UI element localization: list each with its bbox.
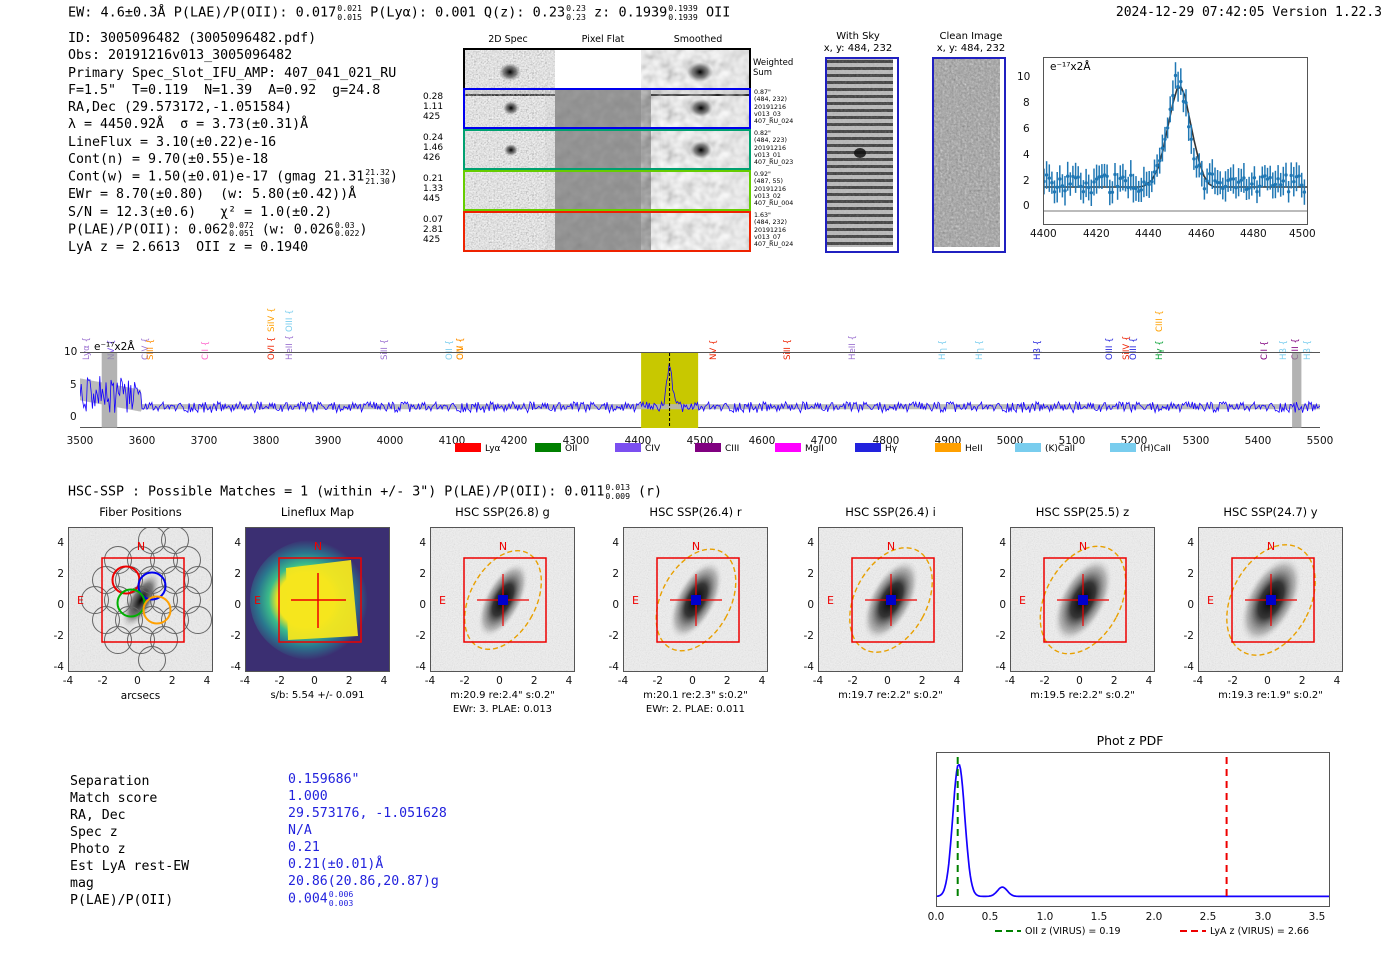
phot-z-xtick: 0.0	[920, 911, 952, 923]
lineplot-xtick: 4460	[1188, 228, 1215, 240]
header-z-type: OII	[706, 5, 730, 21]
lineplot-xtick: 4420	[1083, 228, 1110, 240]
panel-axis-label: arcsecs	[68, 690, 213, 702]
header-ew: EW: 4.6±0.3Å	[68, 5, 166, 21]
panel-xtick: 2	[910, 675, 934, 687]
lineplot-xtick: 4440	[1135, 228, 1162, 240]
panel-ytick: -2	[1176, 630, 1194, 642]
cutout-title-clean-image: Clean Imagex, y: 484, 232	[921, 31, 1021, 55]
spectrum-xtick: 5400	[1240, 435, 1276, 447]
svg-text:N: N	[887, 540, 895, 553]
panel-ytick: 0	[796, 599, 814, 611]
panel-xtick: -4	[611, 675, 635, 687]
panel-xtick: 0	[1256, 675, 1280, 687]
spectrum-xtick: 4000	[372, 435, 408, 447]
header-z-value: 0.1939	[618, 5, 667, 21]
phot-z-xtick: 3.5	[1301, 911, 1333, 923]
weighted-sum-label: Weighted Sum	[753, 58, 793, 78]
panel-title: HSC SSP(26.4) i	[796, 505, 985, 519]
legend-swatch	[455, 443, 481, 452]
panel-xtick: 4	[1137, 675, 1161, 687]
panel-ytick: 0	[223, 599, 241, 611]
cutout-title-with-sky: With Skyx, y: 484, 232	[813, 31, 903, 55]
legend-item: (K)CaII	[1015, 443, 1075, 454]
header-datetime: 2024-12-29 07:42:05	[1116, 5, 1265, 20]
panel-caption-2: EWr: 3. PLAE: 0.013	[406, 704, 599, 715]
panel-ytick: -2	[601, 630, 619, 642]
svg-text:E: E	[1019, 594, 1026, 607]
match-value: 0.21(±0.01)Å	[288, 856, 383, 873]
lineplot-xtick: 4500	[1289, 228, 1316, 240]
panel-xtick: 0	[303, 675, 327, 687]
lineplot-ytick: 8	[1023, 97, 1030, 109]
info-ewr: EWr = 8.70(±0.80) (w: 5.80(±0.42))Å	[68, 186, 398, 203]
panel-caption: m:20.1 re:2.3" s:0.2"	[599, 690, 792, 701]
legend-swatch	[935, 443, 961, 452]
panel-title: HSC SSP(26.8) g	[408, 505, 597, 519]
panel-image[interactable]: N E	[245, 527, 390, 672]
cutout-clean-image	[932, 57, 1006, 253]
match-value: 0.159686"	[288, 771, 359, 788]
spectrum-xtick: 3900	[310, 435, 346, 447]
panel-xtick: 2	[160, 675, 184, 687]
match-plae-range: 0.0060.003	[329, 890, 354, 907]
spec2d-row-right-label: 0.92" (487, 55) 20191216 v013_02 407_RU_…	[754, 171, 793, 207]
info-cont-w: Cont(w) = 1.50(±0.01)e-17 (gmag 21.3121.…	[68, 168, 398, 186]
svg-text:E: E	[1207, 594, 1214, 607]
source-info-block: ID: 3005096482 (3005096482.pdf) Obs: 201…	[68, 30, 398, 256]
spec2d-row-left-label: 0.24 1.46 426	[423, 133, 443, 163]
header-z-range: 0.19390.1939	[668, 4, 698, 21]
match-value: 1.000	[288, 788, 328, 805]
info-plae-range: 0.0720.051	[229, 221, 254, 238]
spectrum-line-markers: Lyα {NV {CIV {SIII {CII {OVI {HeII {SiIV…	[80, 276, 1320, 352]
legend-item: HeII	[935, 443, 983, 454]
panel-image[interactable]: N E	[623, 527, 768, 672]
match-key: Photo z	[70, 841, 126, 858]
panel-ytick: 4	[988, 537, 1006, 549]
match-value: 20.86(20.86,20.87)g	[288, 873, 439, 890]
panel-title: HSC SSP(25.5) z	[988, 505, 1177, 519]
panel-xtick: 0	[876, 675, 900, 687]
panel-ytick: 0	[988, 599, 1006, 611]
spec2d-row	[463, 88, 751, 129]
panel-xtick: 2	[1290, 675, 1314, 687]
header-z-label: z:	[594, 5, 610, 21]
match-value: 0.21	[288, 839, 320, 856]
panel-xtick: -2	[841, 675, 865, 687]
panel-xtick: -4	[418, 675, 442, 687]
info-radec: RA,Dec (29.573172,-1.051584)	[68, 99, 398, 116]
match-value: 29.573176, -1.051628	[288, 805, 447, 822]
info-lineflux: LineFlux = 3.10(±0.22)e-16	[68, 134, 398, 151]
panel-ytick: -4	[408, 661, 426, 673]
info-snr: S/N = 12.3(±0.6) χ² = 1.0(±0.2)	[68, 204, 398, 221]
legend-swatch	[775, 443, 801, 452]
match-value: N/A	[288, 822, 312, 839]
spec2d-row-right-label: 0.82" (484, 223) 20191216 v013_01 407_RU…	[754, 130, 793, 166]
phot-z-pdf-panel: Phot z PDF 0.00.51.01.52.02.53.03.5 OII …	[930, 733, 1330, 948]
svg-text:N: N	[137, 540, 145, 553]
legend-item: MgII	[775, 443, 824, 454]
panel-ytick: -4	[796, 661, 814, 673]
info-lambda: λ = 4450.92Å σ = 3.73(±0.31)Å	[68, 116, 398, 133]
lineplot-xtick: 4480	[1240, 228, 1267, 240]
info-id: ID: 3005096482 (3005096482.pdf)	[68, 30, 398, 47]
panel-ytick: 4	[408, 537, 426, 549]
spectrum-ytick: 5	[70, 379, 77, 391]
spec2d-row	[463, 170, 751, 211]
full-spectrum-plot: e⁻¹⁷x2Å	[80, 352, 1320, 428]
panel-xtick: -2	[268, 675, 292, 687]
header-qz-range: 0.230.23	[566, 4, 586, 21]
panel-ytick: -4	[46, 661, 64, 673]
match-key: Spec z	[70, 824, 118, 841]
panel-caption-2: EWr: 2. PLAE: 0.011	[599, 704, 792, 715]
match-key: Est LyA rest-EW	[70, 858, 189, 875]
info-plae-w-range: 0.030.022	[335, 221, 360, 238]
legend-item: (H)CaII	[1110, 443, 1171, 454]
panel-image[interactable]: N E	[1198, 527, 1343, 672]
spec2d-row-left-label: 0.28 1.11 425	[423, 92, 443, 122]
panel-ytick: 2	[1176, 568, 1194, 580]
panel-ytick: 2	[796, 568, 814, 580]
spectrum-ytick: 0	[70, 411, 77, 423]
phot-z-title: Phot z PDF	[930, 733, 1330, 748]
panel-image[interactable]: N E	[818, 527, 963, 672]
panel-xtick: 0	[488, 675, 512, 687]
spectrum-xtick: 4200	[496, 435, 532, 447]
panel-xtick: 0	[681, 675, 705, 687]
cutout-with-sky	[825, 57, 899, 253]
phot-z-legend-item: OII z (VIRUS) = 0.19	[995, 926, 1121, 937]
legend-item: Hγ	[855, 443, 897, 454]
svg-text:E: E	[632, 594, 639, 607]
panel-xtick: -4	[998, 675, 1022, 687]
panel-xtick: 0	[1068, 675, 1092, 687]
panel-title: HSC SSP(24.7) y	[1176, 505, 1365, 519]
panel-xtick: 2	[1102, 675, 1126, 687]
panel-xtick: -2	[91, 675, 115, 687]
match-key: Separation	[70, 773, 149, 790]
legend-swatch	[695, 443, 721, 452]
col-header-2dspec: 2D Spec	[463, 34, 553, 45]
lineplot-ytick: 10	[1017, 71, 1030, 83]
lineplot-ytick: 0	[1023, 200, 1030, 212]
header-summary-line: EW: 4.6±0.3Å P(LAE)/P(OII): 0.0170.0210.…	[68, 4, 730, 21]
panel-xtick: 4	[1325, 675, 1349, 687]
phot-z-xtick: 1.5	[1083, 911, 1115, 923]
emission-line-label: SiIV {	[267, 308, 277, 332]
spectrum-xtick: 3600	[124, 435, 160, 447]
phot-z-xtick: 3.0	[1247, 911, 1279, 923]
spectrum-xtick: 3800	[248, 435, 284, 447]
legend-item: Lyα	[455, 443, 500, 454]
svg-text:N: N	[1267, 540, 1275, 553]
spec2d-row-right-label: 0.87" (484, 232) 20191216 v013_03 407_RU…	[754, 89, 793, 125]
header-plae-label: P(LAE)/P(OII):	[174, 5, 288, 21]
panel-title: Lineflux Map	[223, 505, 412, 519]
info-redshifts: LyA z = 2.6613 OII z = 0.1940	[68, 239, 398, 256]
spectrum-xtick: 5500	[1302, 435, 1338, 447]
panel-xtick: 2	[522, 675, 546, 687]
panel-ytick: -2	[988, 630, 1006, 642]
legend-item: CIV	[615, 443, 660, 454]
panel-caption: m:19.7 re:2.2" s:0.2"	[794, 690, 987, 701]
info-gmag-range: 21.3221.30	[365, 168, 390, 185]
panel-ytick: 2	[988, 568, 1006, 580]
emission-line-label: CIII {	[1155, 310, 1165, 332]
header-meta: 2024-12-29 07:42:05 Version 1.22.3	[1116, 5, 1382, 20]
panel-ytick: 4	[601, 537, 619, 549]
hscssp-headline: HSC-SSP : Possible Matches = 1 (within +…	[68, 483, 662, 500]
panel-ytick: 0	[601, 599, 619, 611]
spec2d-row-right-label: 1.63" (484, 232) 20191216 v013_07 407_RU…	[754, 212, 793, 248]
panel-ytick: 0	[46, 599, 64, 611]
info-fwhm: F=1.5" T=0.119 N=1.39 A=0.92 g=24.8	[68, 82, 398, 99]
emission-line-label: OIII {	[285, 309, 295, 332]
panel-xtick: -2	[453, 675, 477, 687]
panel-xtick: -4	[56, 675, 80, 687]
phot-z-xtick: 1.0	[1029, 911, 1061, 923]
match-value-plae: 0.0040.0060.003	[288, 890, 353, 908]
line-profile-plot: e⁻¹⁷x2Å 0 2 4 6 8 10 4400 4420 4440 4460…	[1043, 57, 1308, 225]
panel-xtick: 4	[557, 675, 581, 687]
header-version: Version 1.22.3	[1272, 5, 1382, 20]
panel-caption: m:19.3 re:1.9" s:0.2"	[1174, 690, 1367, 701]
spec2d-row-left-label: 0.21 1.33 445	[423, 174, 443, 204]
panel-ytick: 4	[796, 537, 814, 549]
panel-ytick: 0	[408, 599, 426, 611]
header-plae-range: 0.0210.015	[337, 4, 362, 21]
phot-z-legend-item: LyA z (VIRUS) = 2.66	[1180, 926, 1309, 937]
spec2d-row	[463, 129, 751, 170]
panel-xtick: 0	[126, 675, 150, 687]
panel-xtick: 4	[195, 675, 219, 687]
panel-ytick: -2	[796, 630, 814, 642]
panel-xtick: -2	[1033, 675, 1057, 687]
panel-xtick: 4	[945, 675, 969, 687]
svg-text:E: E	[254, 594, 261, 607]
lineplot-ytick: 2	[1023, 175, 1030, 187]
panel-ytick: 2	[46, 568, 64, 580]
panel-ytick: -4	[601, 661, 619, 673]
spectrum-xtick: 5300	[1178, 435, 1214, 447]
spectrum-xtick: 3500	[62, 435, 98, 447]
svg-text:N: N	[314, 540, 322, 553]
phot-z-xtick: 2.5	[1192, 911, 1224, 923]
info-obs: Obs: 20191216v013_3005096482	[68, 47, 398, 64]
panel-ytick: -2	[408, 630, 426, 642]
panel-title: Fiber Positions	[46, 505, 235, 519]
panel-xtick: -4	[1186, 675, 1210, 687]
panel-xtick: -2	[646, 675, 670, 687]
header-qz-value: 0.23	[533, 5, 566, 21]
col-header-pixelflat: Pixel Flat	[558, 34, 648, 45]
header-plae-value: 0.017	[296, 5, 337, 21]
svg-text:E: E	[439, 594, 446, 607]
imaging-panel-row: Fiber Positions N E 420-2-4-4-2024arcsec…	[0, 505, 1400, 720]
panel-xtick: -4	[233, 675, 257, 687]
lineplot-xtick: 4400	[1030, 228, 1057, 240]
info-specslot: Primary Spec_Slot_IFU_AMP: 407_041_021_R…	[68, 65, 398, 82]
panel-ytick: 4	[223, 537, 241, 549]
panel-ytick: 4	[46, 537, 64, 549]
svg-text:N: N	[692, 540, 700, 553]
match-key: P(LAE)/P(OII)	[70, 892, 173, 909]
svg-text:E: E	[77, 594, 84, 607]
legend-swatch	[1110, 443, 1136, 452]
panel-ytick: 4	[1176, 537, 1194, 549]
legend-swatch	[535, 443, 561, 452]
panel-ytick: 2	[601, 568, 619, 580]
line-profile-units: e⁻¹⁷x2Å	[1050, 61, 1091, 73]
col-header-smoothed: Smoothed	[653, 34, 743, 45]
svg-text:N: N	[1079, 540, 1087, 553]
legend-swatch	[855, 443, 881, 452]
spec2d-row	[463, 211, 751, 252]
panel-caption: s/b: 5.54 +/- 0.091	[221, 690, 414, 701]
spectrum-units: e⁻¹⁷x2Å	[94, 341, 135, 353]
legend-item: CIII	[695, 443, 739, 454]
panel-xtick: 2	[337, 675, 361, 687]
spectrum-xtick: 3700	[186, 435, 222, 447]
legend-swatch	[1015, 443, 1041, 452]
info-plae: P(LAE)/P(OII): 0.0620.0720.051 (w: 0.026…	[68, 221, 398, 239]
panel-ytick: -4	[1176, 661, 1194, 673]
spec2d-row-left-label: 0.07 2.81 425	[423, 215, 443, 245]
spectrum-ytick: 10	[64, 346, 77, 358]
panel-title: HSC SSP(26.4) r	[601, 505, 790, 519]
panel-image[interactable]: N E	[1010, 527, 1155, 672]
panel-ytick: -4	[223, 661, 241, 673]
info-cont-n: Cont(n) = 9.70(±0.55)e-18	[68, 151, 398, 168]
panel-xtick: -2	[1221, 675, 1245, 687]
panel-caption: m:19.5 re:2.2" s:0.2"	[986, 690, 1179, 701]
panel-ytick: -2	[223, 630, 241, 642]
lineplot-ytick: 6	[1023, 123, 1030, 135]
panel-image[interactable]: N E	[68, 527, 213, 672]
panel-image[interactable]: N E	[430, 527, 575, 672]
panel-ytick: 2	[408, 568, 426, 580]
panel-ytick: -2	[46, 630, 64, 642]
panel-ytick: 2	[223, 568, 241, 580]
panel-xtick: 4	[750, 675, 774, 687]
phot-z-xtick: 0.5	[974, 911, 1006, 923]
hscssp-plae-range: 0.0130.009	[605, 483, 630, 500]
panel-ytick: -4	[988, 661, 1006, 673]
panel-ytick: 0	[1176, 599, 1194, 611]
phot-z-xtick: 2.0	[1138, 911, 1170, 923]
panel-xtick: -4	[806, 675, 830, 687]
svg-text:E: E	[827, 594, 834, 607]
phot-z-axes	[936, 752, 1330, 907]
panel-xtick: 2	[715, 675, 739, 687]
match-key: mag	[70, 875, 94, 892]
legend-item: OII	[535, 443, 577, 454]
panel-xtick: 4	[372, 675, 396, 687]
header-plya: P(Lyα): 0.001	[370, 5, 476, 21]
header-qz-label: Q(z):	[484, 5, 525, 21]
svg-text:N: N	[499, 540, 507, 553]
match-key: Match score	[70, 790, 157, 807]
panel-caption: m:20.9 re:2.4" s:0.2"	[406, 690, 599, 701]
lineplot-ytick: 4	[1023, 149, 1030, 161]
match-key: RA, Dec	[70, 807, 126, 824]
legend-swatch	[615, 443, 641, 452]
